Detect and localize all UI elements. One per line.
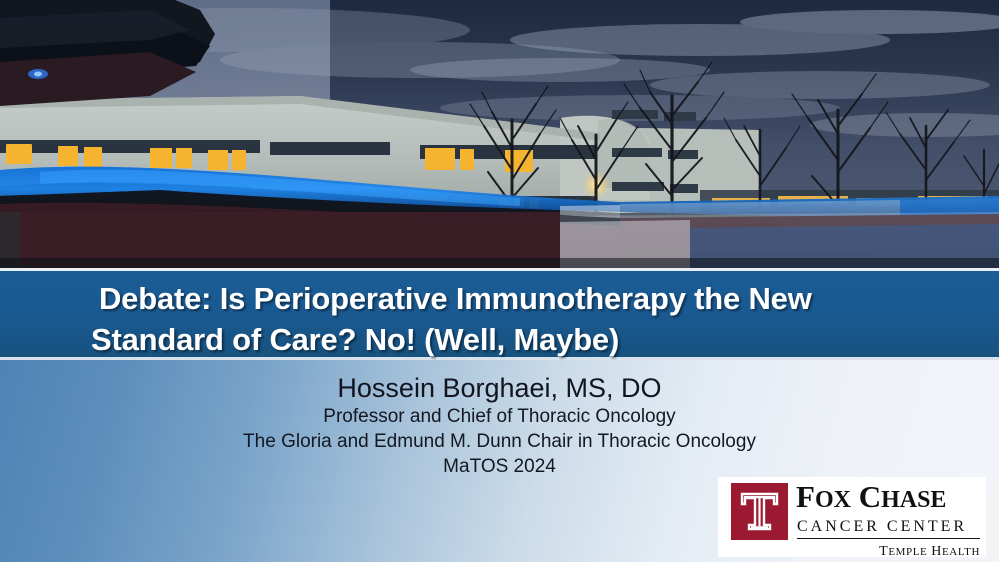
logo-f: F xyxy=(796,479,815,514)
slide-title-band: Debate: Is Perioperative Immunotherapy t… xyxy=(0,268,999,360)
presenter-event: MaTOS 2024 xyxy=(0,454,999,479)
presenter-chair: The Gloria and Edmund M. Dunn Chair in T… xyxy=(0,429,999,454)
campus-photo-artwork xyxy=(0,0,999,270)
temple-t-glyph xyxy=(731,483,788,540)
temple-t-icon xyxy=(731,483,788,540)
logo-th-h: H xyxy=(931,544,942,559)
logo-temple-health-line: TEMPLE HEALTH xyxy=(796,539,982,561)
presenter-name: Hossein Borghaei, MS, DO xyxy=(0,372,999,404)
logo-ox: OX xyxy=(815,487,851,513)
logo-cancer-center-line: CANCER CENTER xyxy=(796,517,982,536)
logo-th-ealth: EALTH xyxy=(942,546,980,558)
presenter-block: Hossein Borghaei, MS, DO Professor and C… xyxy=(0,360,999,479)
logo-hase: HASE xyxy=(881,487,946,513)
campus-photo xyxy=(0,0,999,270)
logo-th-t: T xyxy=(879,544,888,559)
fox-chase-cancer-center-logo: FOX CHASE CANCER CENTER TEMPLE HEALTH xyxy=(718,477,986,557)
slide-title-line-2: Standard of Care? No! (Well, Maybe) xyxy=(0,319,999,360)
slide-title-line-1: Debate: Is Perioperative Immunotherapy t… xyxy=(0,278,999,319)
logo-c: C xyxy=(859,479,881,514)
logo-th-emple: EMPLE xyxy=(888,546,927,558)
logo-fox-chase-line: FOX CHASE xyxy=(796,480,982,517)
presenter-role: Professor and Chief of Thoracic Oncology xyxy=(0,404,999,429)
logo-wordmark: FOX CHASE CANCER CENTER TEMPLE HEALTH xyxy=(796,480,982,561)
presentation-title-slide: Debate: Is Perioperative Immunotherapy t… xyxy=(0,0,999,562)
